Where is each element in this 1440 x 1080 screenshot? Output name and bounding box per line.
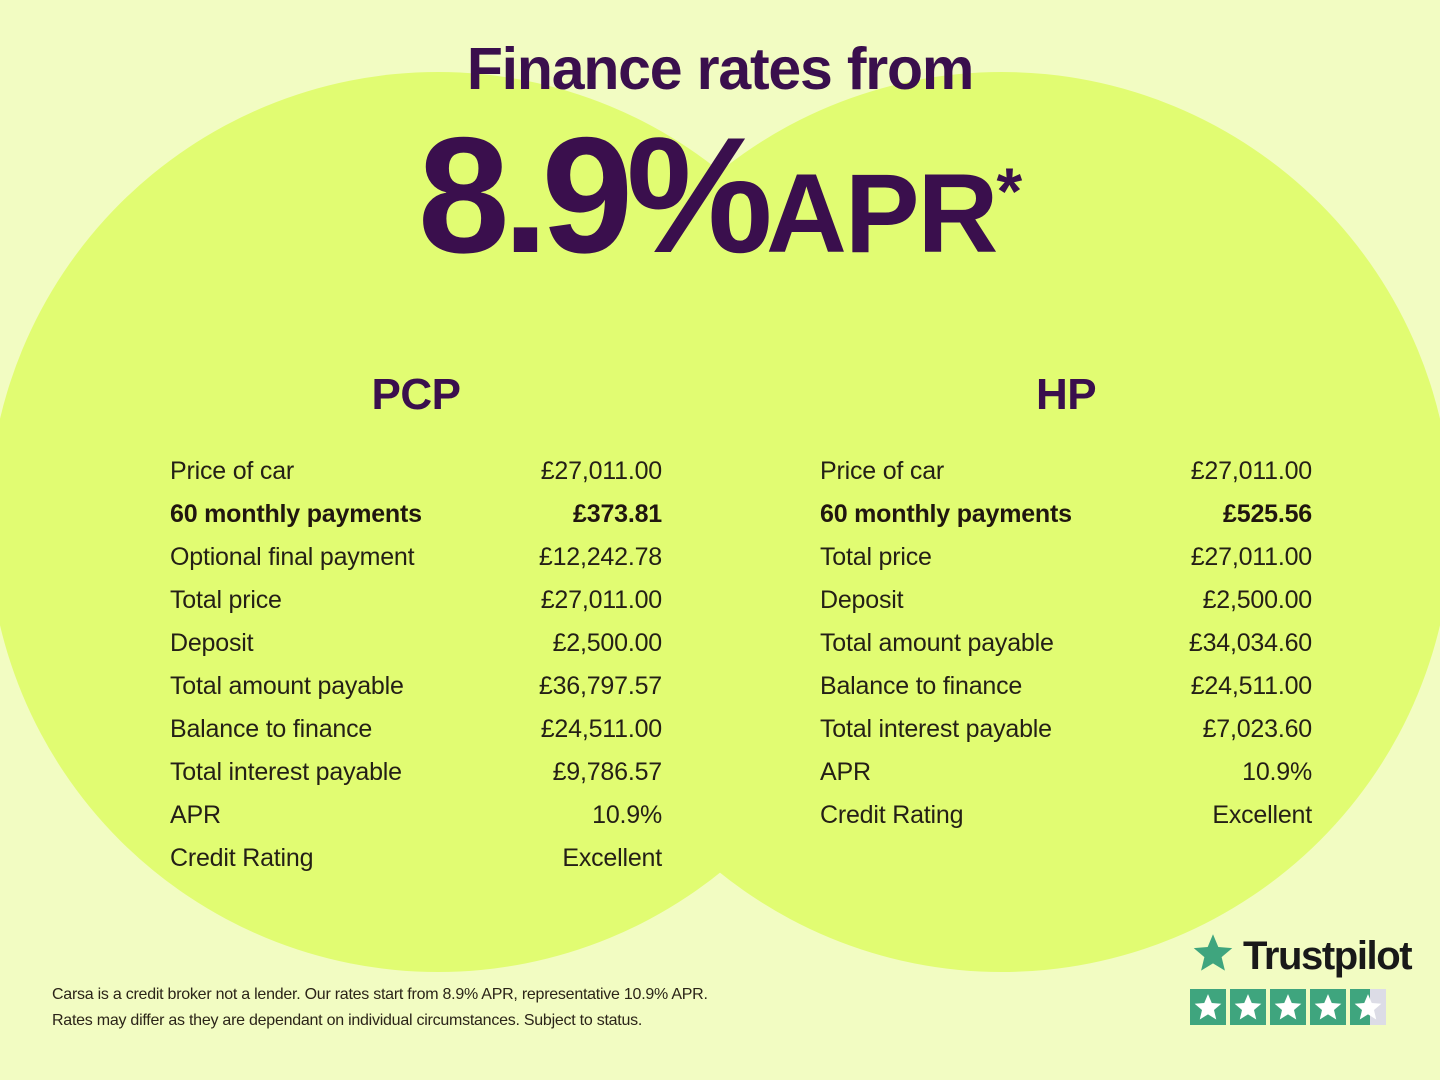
trustpilot-rating-stars [1190, 989, 1395, 1025]
trustpilot-star [1310, 989, 1346, 1025]
row-value: £24,511.00 [500, 708, 662, 751]
row-label: APR [170, 794, 500, 837]
row-value: £24,511.00 [1150, 665, 1312, 708]
row-value: Excellent [1150, 794, 1312, 837]
table-row: Total price£27,011.00 [170, 579, 662, 622]
hero-section: Finance rates from 8.9%APR* [0, 0, 1440, 278]
row-label: Credit Rating [820, 794, 1150, 837]
table-row: Balance to finance£24,511.00 [170, 708, 662, 751]
row-value: 10.9% [1150, 751, 1312, 794]
table-row: APR10.9% [170, 794, 662, 837]
table-row: Total amount payable£34,034.60 [820, 622, 1312, 665]
table-row: Total interest payable£9,786.57 [170, 751, 662, 794]
plan-title-pcp: PCP [170, 370, 662, 420]
row-label: Price of car [170, 450, 500, 493]
row-value: £12,242.78 [500, 536, 662, 579]
row-value: £27,011.00 [1150, 536, 1312, 579]
plan-panel-pcp: PCP Price of car£27,011.0060 monthly pay… [170, 370, 662, 880]
apr-label: APR [766, 151, 996, 276]
row-label: Total interest payable [170, 751, 500, 794]
disclaimer-text: Carsa is a credit broker not a lender. O… [52, 982, 812, 1035]
trustpilot-star [1350, 989, 1386, 1025]
trustpilot-star [1230, 989, 1266, 1025]
table-row: Balance to finance£24,511.00 [820, 665, 1312, 708]
table-row: Credit RatingExcellent [820, 794, 1312, 837]
disclaimer-line-1: Carsa is a credit broker not a lender. O… [52, 982, 812, 1008]
row-value: £373.81 [500, 493, 662, 536]
row-label: 60 monthly payments [820, 493, 1150, 536]
table-row: 60 monthly payments£525.56 [820, 493, 1312, 536]
table-row: Credit RatingExcellent [170, 837, 662, 880]
trustpilot-wordmark: Trustpilot [1243, 936, 1411, 976]
table-row: Price of car£27,011.00 [820, 450, 1312, 493]
row-value: £9,786.57 [500, 751, 662, 794]
apr-rate-value: 8.9% [418, 103, 766, 287]
trustpilot-star-glyph [1350, 989, 1386, 1025]
poster-canvas: Finance rates from 8.9%APR* PCP Price of… [0, 0, 1440, 1080]
table-row: 60 monthly payments£373.81 [170, 493, 662, 536]
table-row: Price of car£27,011.00 [170, 450, 662, 493]
row-value: £27,011.00 [500, 579, 662, 622]
asterisk-marker: * [996, 154, 1022, 228]
row-value: £2,500.00 [1150, 579, 1312, 622]
table-row: Optional final payment£12,242.78 [170, 536, 662, 579]
row-value: £27,011.00 [500, 450, 662, 493]
row-value: £2,500.00 [500, 622, 662, 665]
plan-panel-hp: HP Price of car£27,011.0060 monthly paym… [820, 370, 1312, 837]
row-label: APR [820, 751, 1150, 794]
row-label: Balance to finance [820, 665, 1150, 708]
trustpilot-star-glyph [1190, 989, 1226, 1025]
table-row: APR10.9% [820, 751, 1312, 794]
page-title: Finance rates from [0, 0, 1440, 99]
trustpilot-star-glyph [1270, 989, 1306, 1025]
row-label: Total interest payable [820, 708, 1150, 751]
trustpilot-star-glyph [1230, 989, 1266, 1025]
row-value: £36,797.57 [500, 665, 662, 708]
plan-table-body-hp: Price of car£27,011.0060 monthly payment… [820, 450, 1312, 837]
row-label: Price of car [820, 450, 1150, 493]
trustpilot-star [1270, 989, 1306, 1025]
row-value: £34,034.60 [1150, 622, 1312, 665]
row-value: Excellent [500, 837, 662, 880]
trustpilot-brand: Trustpilot [1190, 930, 1395, 982]
table-row: Deposit£2,500.00 [170, 622, 662, 665]
row-label: Balance to finance [170, 708, 500, 751]
disclaimer-line-2: Rates may differ as they are dependant o… [52, 1008, 812, 1034]
row-label: 60 monthly payments [170, 493, 500, 536]
table-row: Total amount payable£36,797.57 [170, 665, 662, 708]
table-row: Deposit£2,500.00 [820, 579, 1312, 622]
row-label: Total price [820, 536, 1150, 579]
row-value: 10.9% [500, 794, 662, 837]
trustpilot-star-glyph [1310, 989, 1346, 1025]
plan-table-hp: Price of car£27,011.0060 monthly payment… [820, 450, 1312, 837]
trustpilot-badge[interactable]: Trustpilot [1190, 930, 1395, 1025]
row-value: £525.56 [1150, 493, 1312, 536]
row-value: £7,023.60 [1150, 708, 1312, 751]
plan-table-body-pcp: Price of car£27,011.0060 monthly payment… [170, 450, 662, 880]
row-label: Total price [170, 579, 500, 622]
row-label: Total amount payable [820, 622, 1150, 665]
trustpilot-star [1190, 989, 1226, 1025]
row-label: Deposit [170, 622, 500, 665]
trustpilot-star-icon [1190, 932, 1236, 981]
plan-title-hp: HP [820, 370, 1312, 420]
table-row: Total interest payable£7,023.60 [820, 708, 1312, 751]
apr-headline: 8.9%APR* [0, 99, 1440, 278]
row-label: Total amount payable [170, 665, 500, 708]
plan-table-pcp: Price of car£27,011.0060 monthly payment… [170, 450, 662, 880]
table-row: Total price£27,011.00 [820, 536, 1312, 579]
row-label: Credit Rating [170, 837, 500, 880]
row-label: Optional final payment [170, 536, 500, 579]
row-value: £27,011.00 [1150, 450, 1312, 493]
row-label: Deposit [820, 579, 1150, 622]
